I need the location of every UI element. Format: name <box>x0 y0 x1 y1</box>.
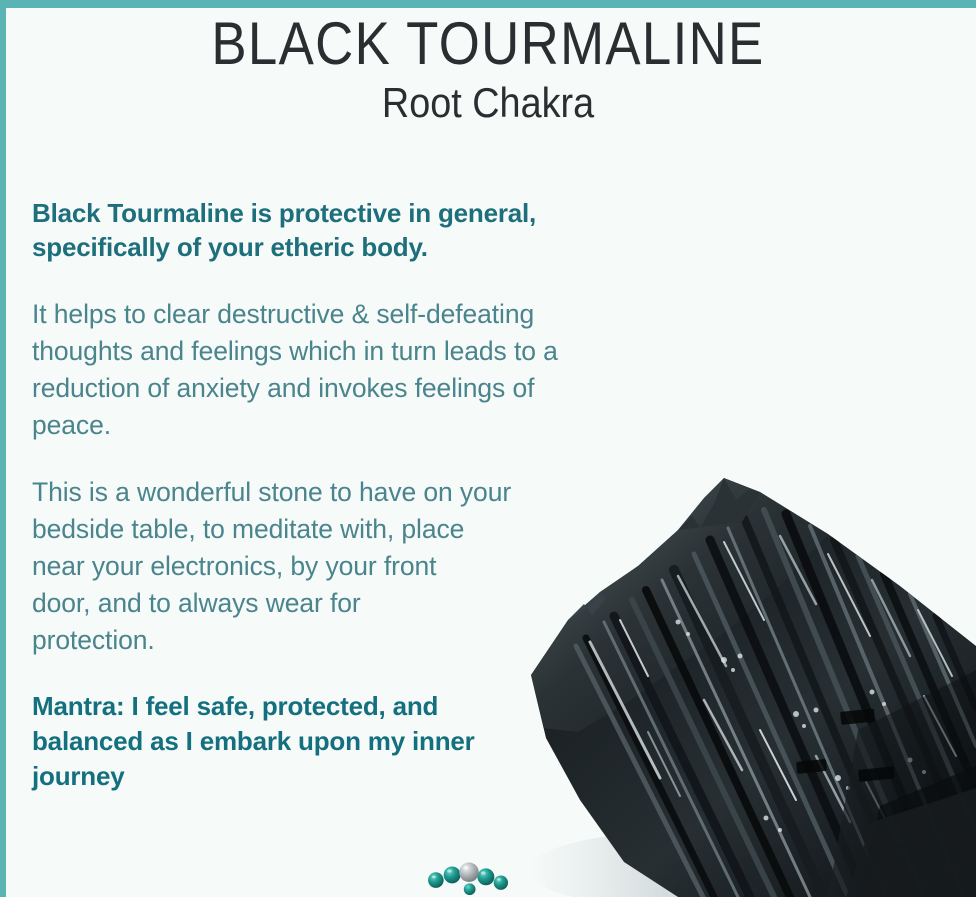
header: BLACK TOURMALINE Root Chakra <box>0 10 976 128</box>
infographic-page: BLACK TOURMALINE Root Chakra Black Tourm… <box>0 0 976 897</box>
top-accent-bar <box>0 0 976 8</box>
body-copy: Black Tourmaline is protective in genera… <box>32 196 692 794</box>
left-accent-bar <box>0 0 6 897</box>
paragraph-intro: Black Tourmaline is protective in genera… <box>32 196 692 264</box>
page-title: BLACK TOURMALINE <box>59 10 918 78</box>
paragraph-benefits: It helps to clear destructive & self-def… <box>32 296 692 444</box>
bead-bracelet-image <box>404 858 534 897</box>
page-subtitle: Root Chakra <box>49 78 927 128</box>
paragraph-placement: This is a wonderful stone to have on you… <box>32 474 612 659</box>
paragraph-mantra: Mantra: I feel safe, protected, and bala… <box>32 689 592 794</box>
